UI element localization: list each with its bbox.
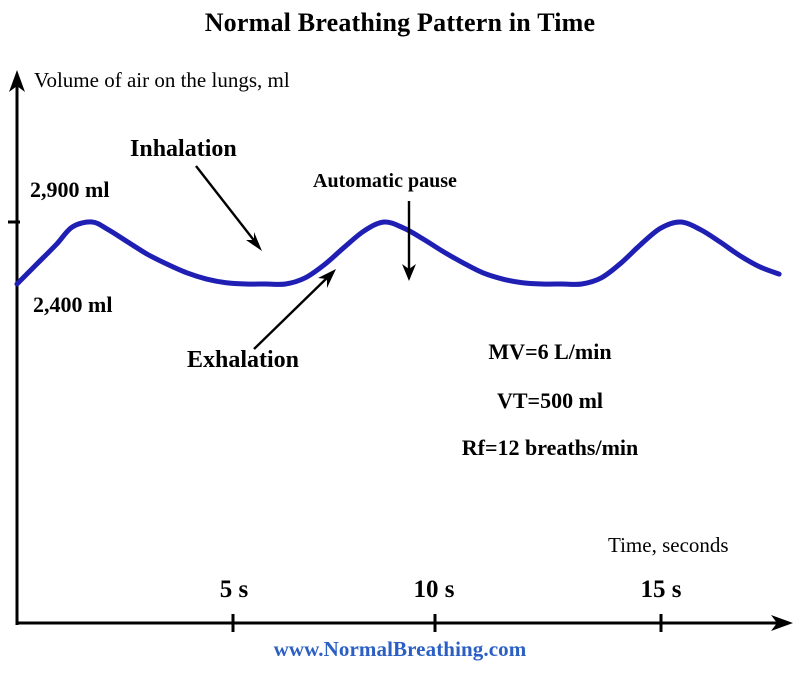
breathing-pattern-figure: Normal Breathing Pattern in Time	[0, 0, 800, 676]
x-axis	[16, 614, 793, 632]
annotation-exhalation: Exhalation	[187, 347, 299, 374]
y-axis	[8, 70, 25, 625]
x-axis-title: Time, seconds	[608, 533, 729, 558]
site-watermark[interactable]: www.NormalBreathing.com	[0, 637, 800, 662]
inhalation-arrow	[196, 166, 262, 251]
metric-tidal-volume: VT=500 ml	[390, 388, 710, 414]
metric-respiratory-frequency: Rf=12 breaths/min	[390, 435, 710, 461]
x-tick-label-10s: 10 s	[394, 576, 474, 604]
annotation-automatic-pause: Automatic pause	[313, 170, 457, 193]
x-tick-label-15s: 15 s	[621, 576, 701, 604]
x-tick-label-5s: 5 s	[194, 576, 274, 604]
metric-minute-volume: MV=6 L/min	[390, 339, 710, 365]
annotation-inhalation: Inhalation	[130, 136, 237, 163]
plot-area	[0, 0, 800, 676]
y-value-upper-label: 2,900 ml	[30, 177, 109, 203]
automatic-pause-arrow	[402, 201, 416, 281]
breathing-waveform	[17, 222, 779, 285]
y-value-lower-label: 2,400 ml	[33, 292, 112, 318]
y-axis-title: Volume of air on the lungs, ml	[34, 68, 290, 93]
